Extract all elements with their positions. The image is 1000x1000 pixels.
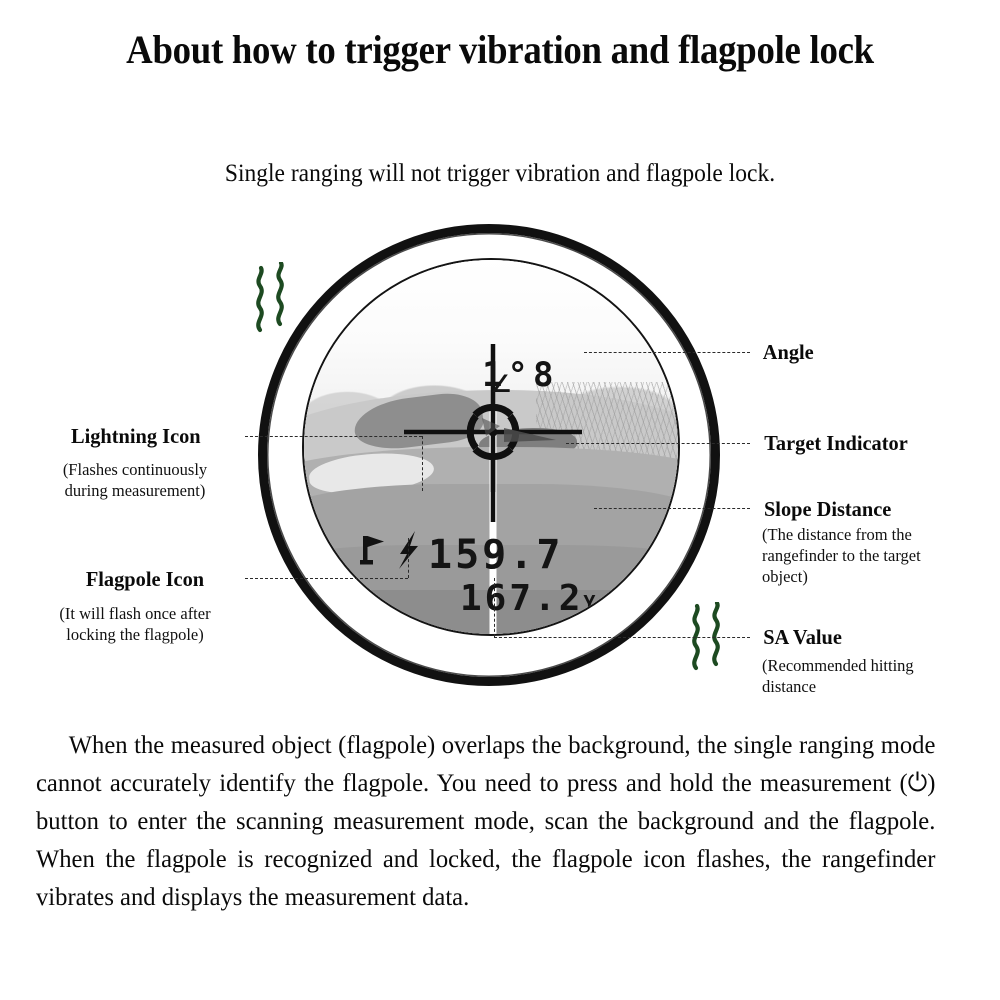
scope-inner-ring: ∠ 1°8 159.7 167.2Y (302, 258, 680, 636)
angle-value: 1°8 (482, 355, 558, 395)
note-sa-value: (Recommended hitting distance (762, 655, 987, 697)
note-flagpole-icon: (It will flash once after locking the fl… (26, 603, 244, 645)
page-subtitle: Single ranging will not trigger vibratio… (30, 158, 970, 190)
leader-angle (584, 352, 750, 353)
leader-lightning-vertical (422, 436, 423, 491)
lightning-icon (394, 530, 424, 570)
note-line: (Recommended hitting (762, 655, 987, 676)
body-paragraph: When the measured object (flagpole) over… (36, 726, 935, 916)
leader-flagpole-horizontal (245, 578, 408, 579)
rangefinder-viewfinder: ∠ 1°8 159.7 167.2Y (258, 224, 720, 686)
body-line-1: When the measured object (flagpole) over… (69, 730, 793, 759)
body-line-5: flagpole is recognized and locked, the f… (146, 844, 811, 873)
flagpole-icon (360, 532, 394, 568)
label-angle: Angle (763, 339, 814, 365)
sa-value-readout: 167.2Y (460, 578, 595, 619)
note-line: rangefinder to the target (762, 545, 987, 566)
leader-flagpole-vertical (408, 538, 409, 578)
leader-slope-distance (594, 508, 750, 509)
note-line: locking the flagpole) (26, 624, 244, 645)
leader-lightning-horizontal (245, 436, 422, 437)
label-flagpole-icon: Flagpole Icon (86, 566, 204, 592)
leader-target-indicator (566, 443, 750, 444)
sa-value-number: 167.2 (460, 578, 583, 619)
power-button-icon: ⏻ (908, 768, 927, 797)
note-line: (The distance from the (762, 524, 987, 545)
label-target-indicator: Target Indicator (764, 430, 908, 456)
note-lightning-icon: (Flashes continuously during measurement… (26, 459, 244, 501)
slope-distance-value: 159.7 (428, 532, 563, 578)
note-line: distance (762, 676, 987, 697)
label-sa-value: SA Value (763, 624, 842, 650)
body-line-3a: and hold the measurement ( (626, 768, 908, 797)
note-line: (Flashes continuously (26, 459, 244, 480)
leader-sa-value-vertical (494, 578, 495, 637)
leader-sa-value-horizontal (494, 637, 750, 638)
note-line: object) (762, 566, 987, 587)
page-title: About how to trigger vibration and flagp… (40, 24, 960, 76)
note-line: (It will flash once after (26, 603, 244, 624)
distance-unit: Y (583, 591, 595, 615)
note-line: during measurement) (26, 480, 244, 501)
note-slope-distance: (The distance from the rangefinder to th… (762, 524, 987, 587)
label-lightning-icon: Lightning Icon (71, 423, 201, 449)
label-slope-distance: Slope Distance (764, 496, 891, 522)
